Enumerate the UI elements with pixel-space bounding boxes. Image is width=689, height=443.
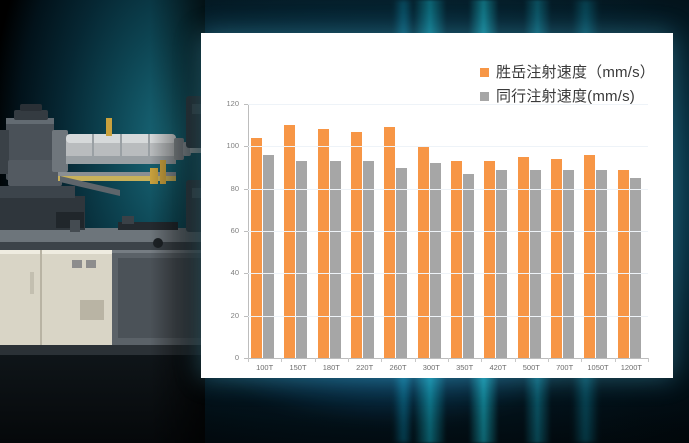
x-axis-tick (481, 358, 482, 362)
x-axis-label: 700T (548, 364, 582, 372)
bar-shengyue[interactable] (451, 161, 462, 358)
photo-edge-fade (150, 0, 205, 443)
bar-peer[interactable] (496, 170, 507, 358)
x-axis-tick (248, 358, 249, 362)
y-axis-label: 80 (213, 185, 239, 193)
chart-plot-area: 020406080100120100T150T180T220T260T300T3… (201, 33, 673, 378)
bar-shengyue[interactable] (484, 161, 495, 358)
bar-shengyue[interactable] (584, 155, 595, 358)
bar-shengyue[interactable] (251, 138, 262, 358)
x-axis-label: 1050T (581, 364, 615, 372)
x-axis-label: 150T (281, 364, 315, 372)
x-axis-tick (615, 358, 616, 362)
machine-photo (0, 0, 205, 443)
x-axis-label: 500T (514, 364, 548, 372)
y-axis-tick (244, 104, 248, 105)
gridline (248, 189, 648, 190)
x-axis-tick (281, 358, 282, 362)
bar-shengyue[interactable] (418, 146, 429, 358)
chart-panel: 胜岳注射速度（mm/s） 同行注射速度(mm/s) 02040608010012… (201, 33, 673, 378)
bar-peer[interactable] (596, 170, 607, 358)
x-axis-label: 1200T (614, 364, 648, 372)
bar-peer[interactable] (330, 161, 341, 358)
bar-peer[interactable] (463, 174, 474, 358)
x-axis-tick (648, 358, 649, 362)
y-axis-label: 120 (213, 100, 239, 108)
x-axis-tick (581, 358, 582, 362)
x-axis-tick (315, 358, 316, 362)
gridline (248, 316, 648, 317)
x-axis-label: 420T (481, 364, 515, 372)
y-axis-label: 20 (213, 312, 239, 320)
bar-shengyue[interactable] (618, 170, 629, 358)
y-axis-label: 40 (213, 269, 239, 277)
bar-shengyue[interactable] (351, 132, 362, 358)
slide-canvas: 胜岳注射速度（mm/s） 同行注射速度(mm/s) 02040608010012… (0, 0, 689, 443)
x-axis-label: 220T (348, 364, 382, 372)
y-axis-tick (244, 316, 248, 317)
x-axis-tick (348, 358, 349, 362)
bar-peer[interactable] (630, 178, 641, 358)
bar-shengyue[interactable] (318, 129, 329, 358)
gridline (248, 231, 648, 232)
bar-shengyue[interactable] (284, 125, 295, 358)
y-axis-tick (244, 273, 248, 274)
y-axis-label: 60 (213, 227, 239, 235)
x-axis-tick (548, 358, 549, 362)
bar-shengyue[interactable] (518, 157, 529, 358)
y-axis-tick (244, 189, 248, 190)
x-axis-tick (381, 358, 382, 362)
y-axis-tick (244, 231, 248, 232)
bar-peer[interactable] (296, 161, 307, 358)
y-axis-tick (244, 146, 248, 147)
bar-peer[interactable] (263, 155, 274, 358)
x-axis-label: 180T (314, 364, 348, 372)
x-axis-label: 350T (448, 364, 482, 372)
gridline (248, 273, 648, 274)
bar-peer[interactable] (530, 170, 541, 358)
bar-peer[interactable] (396, 168, 407, 359)
x-axis-tick (515, 358, 516, 362)
y-axis-label: 0 (213, 354, 239, 362)
x-axis-tick (415, 358, 416, 362)
x-axis-label: 100T (248, 364, 282, 372)
x-axis-label: 300T (414, 364, 448, 372)
x-axis-tick (448, 358, 449, 362)
x-axis-label: 260T (381, 364, 415, 372)
bar-peer[interactable] (563, 170, 574, 358)
bar-shengyue[interactable] (384, 127, 395, 358)
bar-peer[interactable] (363, 161, 374, 358)
y-axis-label: 100 (213, 142, 239, 150)
bar-peer[interactable] (430, 163, 441, 358)
gridline (248, 146, 648, 147)
gridline (248, 104, 648, 105)
